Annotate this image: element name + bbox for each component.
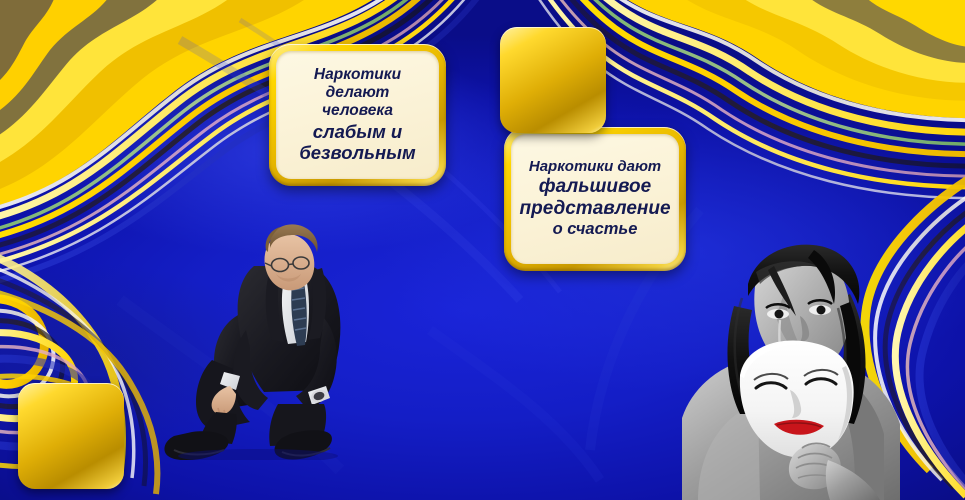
message-card-false-happiness-inner: Наркотики дают фальшивое представление о… [511,134,679,264]
card-false-line-1: Наркотики дают [529,158,661,176]
card-false-line-4: о счастье [553,220,638,239]
slide-canvas: Наркотики делают человека слабым и безво… [0,0,965,500]
message-card-weak: Наркотики делают человека слабым и безво… [269,44,446,186]
centre-public-health-logo-top[interactable]: Центр Общественного ЗДОРОВЬЯ медицинской… [500,27,606,133]
card-weak-line-5: безвольным [299,142,415,164]
message-card-false-happiness: Наркотики дают фальшивое представление о… [504,127,686,271]
woman-with-mask-photo [678,238,918,500]
message-card-weak-inner: Наркотики делают человека слабым и безво… [276,51,439,179]
depressed-man-photo [158,222,376,460]
card-weak-line-2: делают [326,84,390,102]
card-weak-line-4: слабым и [313,121,402,143]
centre-public-health-logo-bottom[interactable]: Центр Общественного ЗДОРОВЬЯ медицинской… [18,383,124,489]
card-weak-line-3: человека [322,102,393,120]
card-weak-line-1: Наркотики [314,66,401,84]
card-false-line-3: представление [519,198,670,220]
card-false-line-2: фальшивое [539,176,651,198]
